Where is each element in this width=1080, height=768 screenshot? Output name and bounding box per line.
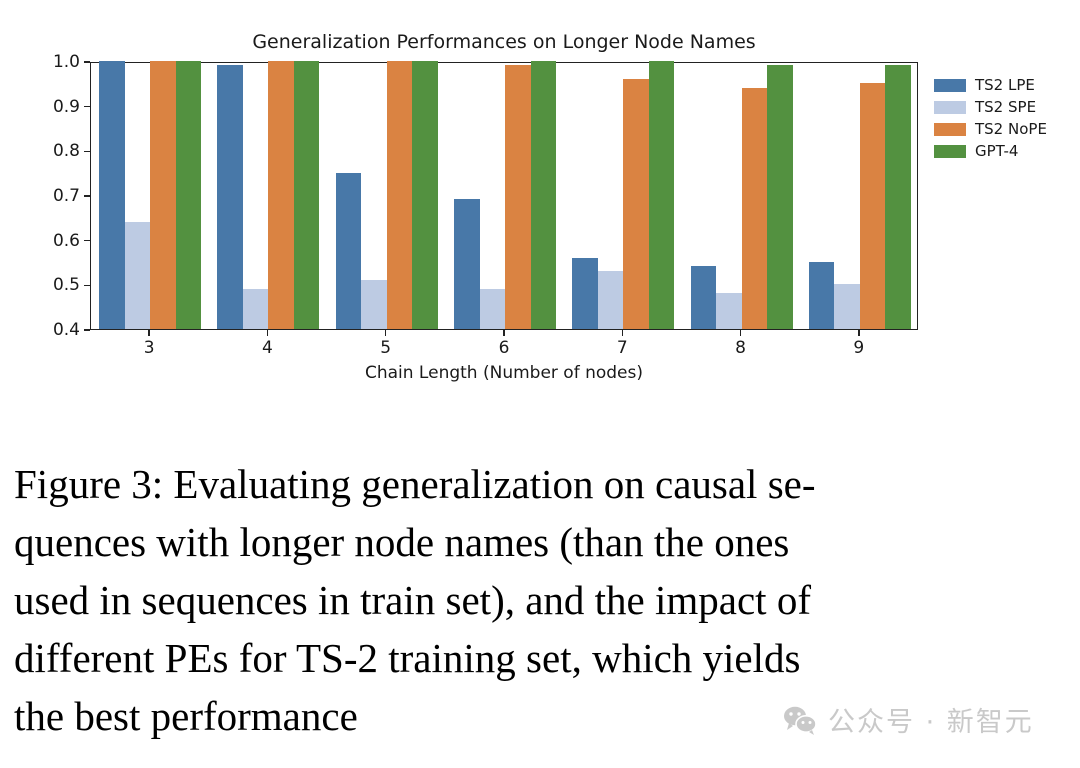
caption-line: used in sequences in train set), and the… <box>14 571 1066 629</box>
x-tick-mark <box>503 330 504 336</box>
x-axis-label: Chain Length (Number of nodes) <box>90 363 918 383</box>
x-tick-label: 7 <box>592 338 652 358</box>
bar-ts2-spe-5 <box>361 280 387 329</box>
bar-ts2-lpe-8 <box>691 266 717 329</box>
chart-title: Generalization Performances on Longer No… <box>90 31 918 53</box>
watermark: 公众号 · 新智元 <box>782 700 1034 739</box>
bar-ts2-nope-7 <box>623 79 649 329</box>
bar-gpt-4-5 <box>412 61 438 329</box>
bar-ts2-nope-9 <box>860 83 886 329</box>
figure-3: Generalization Performances on Longer No… <box>0 0 1080 420</box>
x-tick-mark <box>858 330 859 336</box>
legend-item-ts2-nope: TS2 NoPE <box>934 118 1047 140</box>
bar-ts2-nope-5 <box>387 61 413 329</box>
x-tick-label: 8 <box>711 338 771 358</box>
legend-swatch <box>934 101 966 114</box>
bar-ts2-lpe-7 <box>572 258 598 329</box>
bar-ts2-nope-6 <box>505 65 531 329</box>
y-tick-label: 1.0 <box>20 52 80 72</box>
plot-area <box>90 62 918 330</box>
bar-gpt-4-4 <box>294 61 320 329</box>
legend-label: TS2 NoPE <box>975 120 1047 138</box>
bar-gpt-4-7 <box>649 61 675 329</box>
x-tick-label: 9 <box>829 338 889 358</box>
bar-ts2-spe-4 <box>243 289 269 329</box>
bar-ts2-lpe-3 <box>99 61 125 329</box>
x-tick-mark <box>740 330 741 336</box>
x-tick-label: 5 <box>356 338 416 358</box>
y-tick-label: 0.9 <box>20 97 80 117</box>
x-tick-mark <box>622 330 623 336</box>
x-tick-label: 6 <box>474 338 534 358</box>
chart-legend: TS2 LPETS2 SPETS2 NoPEGPT-4 <box>934 74 1047 162</box>
x-tick-mark <box>148 330 149 336</box>
bar-gpt-4-8 <box>767 65 793 329</box>
bar-ts2-spe-8 <box>716 293 742 329</box>
legend-label: GPT-4 <box>975 142 1018 160</box>
x-tick-mark <box>267 330 268 336</box>
legend-swatch <box>934 123 966 136</box>
bars-container <box>91 63 917 329</box>
legend-item-gpt-4: GPT-4 <box>934 140 1047 162</box>
bar-ts2-lpe-4 <box>217 65 243 329</box>
y-tick-label: 0.4 <box>20 320 80 340</box>
x-tick-label: 4 <box>237 338 297 358</box>
bar-ts2-nope-8 <box>742 88 768 329</box>
caption-line: Figure 3: Evaluating generalization on c… <box>14 455 1066 513</box>
bar-ts2-spe-3 <box>125 222 151 329</box>
legend-swatch <box>934 145 966 158</box>
bar-ts2-spe-6 <box>480 289 506 329</box>
legend-swatch <box>934 79 966 92</box>
caption-line: different PEs for TS-2 training set, whi… <box>14 629 1066 687</box>
watermark-text: 公众号 · 新智元 <box>828 700 1034 739</box>
legend-label: TS2 LPE <box>975 76 1035 94</box>
bar-ts2-nope-4 <box>268 61 294 329</box>
legend-item-ts2-spe: TS2 SPE <box>934 96 1047 118</box>
y-tick-label: 0.6 <box>20 231 80 251</box>
x-tick-mark <box>385 330 386 336</box>
bar-ts2-lpe-5 <box>336 173 362 329</box>
wechat-icon <box>782 705 818 735</box>
legend-item-ts2-lpe: TS2 LPE <box>934 74 1047 96</box>
x-tick-label: 3 <box>119 338 179 358</box>
legend-label: TS2 SPE <box>975 98 1036 116</box>
bar-ts2-nope-3 <box>150 61 176 329</box>
bar-ts2-spe-9 <box>834 284 860 329</box>
bar-ts2-lpe-9 <box>809 262 835 329</box>
y-tick-label: 0.8 <box>20 141 80 161</box>
y-tick-label: 0.7 <box>20 186 80 206</box>
bar-ts2-lpe-6 <box>454 199 480 329</box>
bar-gpt-4-6 <box>531 61 557 329</box>
bar-gpt-4-9 <box>885 65 911 329</box>
bar-ts2-spe-7 <box>598 271 624 329</box>
caption-line: quences with longer node names (than the… <box>14 513 1066 571</box>
y-tick-label: 0.5 <box>20 275 80 295</box>
bar-gpt-4-3 <box>176 61 202 329</box>
